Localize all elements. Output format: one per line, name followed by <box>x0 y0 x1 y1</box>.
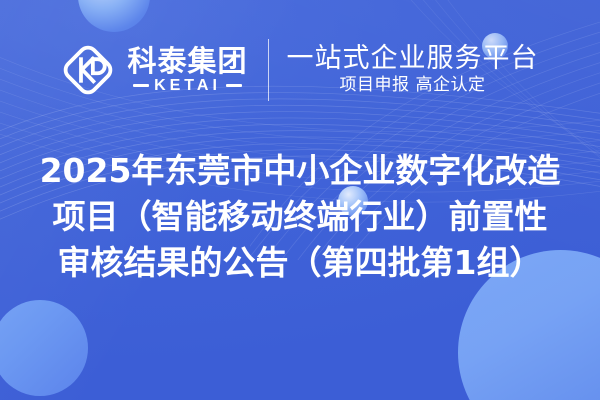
brand-rule-right-icon <box>226 84 242 87</box>
tagline-block: 一站式企业服务平台 项目申报 高企认定 <box>287 45 539 95</box>
banner-header: 科泰集团 KETAI 一站式企业服务平台 项目申报 高企认定 <box>0 0 600 140</box>
brand-logo: 科泰集团 KETAI <box>61 43 247 97</box>
header-divider <box>268 39 269 101</box>
brand-name-en: KETAI <box>154 78 221 94</box>
banner-image: 科泰集团 KETAI 一站式企业服务平台 项目申报 高企认定 2025年东莞市中… <box>0 0 600 400</box>
tagline-main: 一站式企业服务平台 <box>287 45 539 73</box>
title-line-2: 项目（智能移动终端行业）前置性 <box>53 194 548 240</box>
title-line-1: 2025年东莞市中小企业数字化改造 <box>40 148 561 194</box>
ketai-diamond-monogram-icon <box>61 43 115 97</box>
brand-wordmark: 科泰集团 KETAI <box>127 47 247 94</box>
brand-name-cn: 科泰集团 <box>127 47 247 76</box>
announcement-title: 2025年东莞市中小企业数字化改造 项目（智能移动终端行业）前置性 审核结果的公… <box>0 148 600 286</box>
brand-rule-left-icon <box>133 84 149 87</box>
tagline-sub: 项目申报 高企认定 <box>340 76 486 95</box>
brand-name-en-row: KETAI <box>127 78 247 94</box>
title-line-3: 审核结果的公告（第四批第1组） <box>58 240 543 286</box>
